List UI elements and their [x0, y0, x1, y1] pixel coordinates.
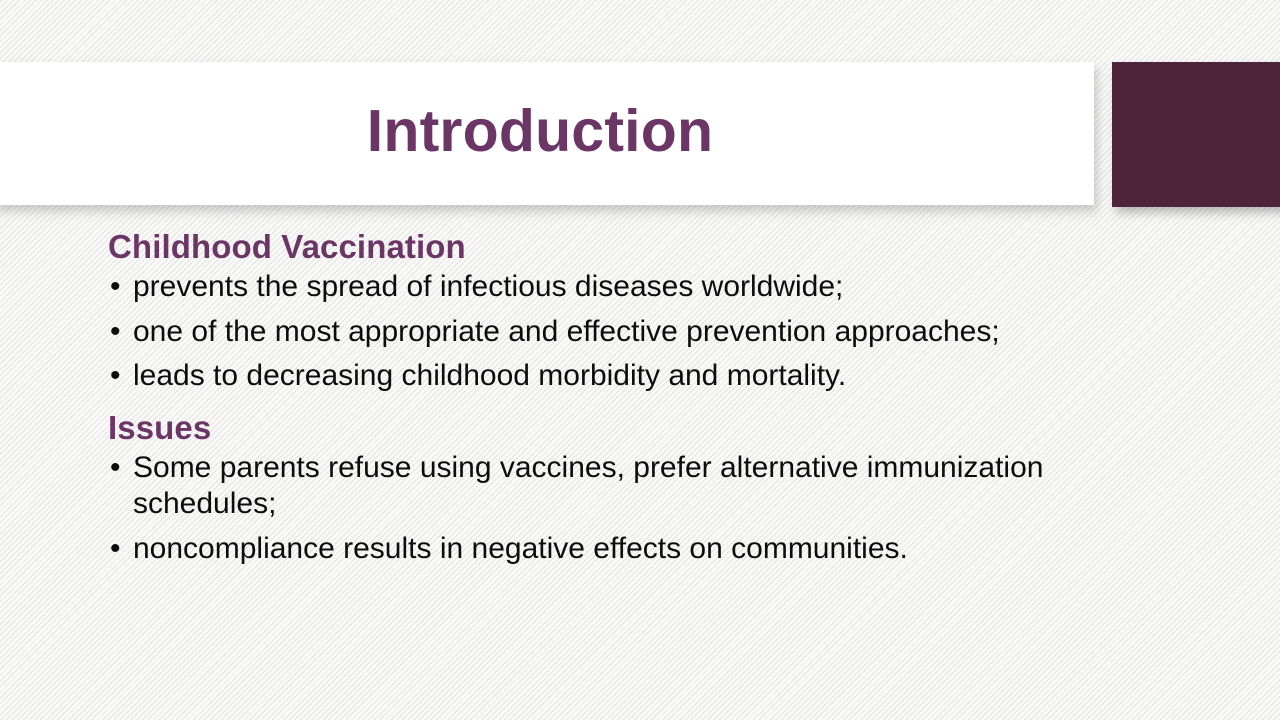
list-item-text: prevents the spread of infectious diseas… [133, 269, 1048, 306]
section-heading-issues: Issues [108, 409, 1048, 448]
list-item: • noncompliance results in negative effe… [108, 531, 1048, 568]
title-bar: Introduction [0, 62, 1094, 205]
bullet-list-issues: • Some parents refuse using vaccines, pr… [108, 450, 1048, 568]
presentation-slide: Introduction Childhood Vaccination • pre… [0, 0, 1280, 720]
bullet-dot-icon: • [110, 314, 121, 351]
bullet-dot-icon: • [110, 531, 121, 568]
bullet-dot-icon: • [110, 450, 121, 487]
section-heading-childhood-vaccination: Childhood Vaccination [108, 228, 1048, 267]
title-accent-block [1112, 62, 1280, 207]
list-item: • one of the most appropriate and effect… [108, 314, 1048, 351]
list-item-text: leads to decreasing childhood morbidity … [133, 358, 1048, 395]
list-item-text: noncompliance results in negative effect… [133, 531, 1048, 568]
list-item: • prevents the spread of infectious dise… [108, 269, 1048, 306]
slide-title: Introduction [367, 102, 714, 165]
list-item-text: Some parents refuse using vaccines, pref… [133, 450, 1048, 523]
bullet-dot-icon: • [110, 358, 121, 395]
list-item: • Some parents refuse using vaccines, pr… [108, 450, 1048, 523]
bullet-dot-icon: • [110, 269, 121, 306]
bullet-list-childhood-vaccination: • prevents the spread of infectious dise… [108, 269, 1048, 395]
list-item-text: one of the most appropriate and effectiv… [133, 314, 1048, 351]
slide-body: Childhood Vaccination • prevents the spr… [108, 228, 1048, 567]
list-item: • leads to decreasing childhood morbidit… [108, 358, 1048, 395]
